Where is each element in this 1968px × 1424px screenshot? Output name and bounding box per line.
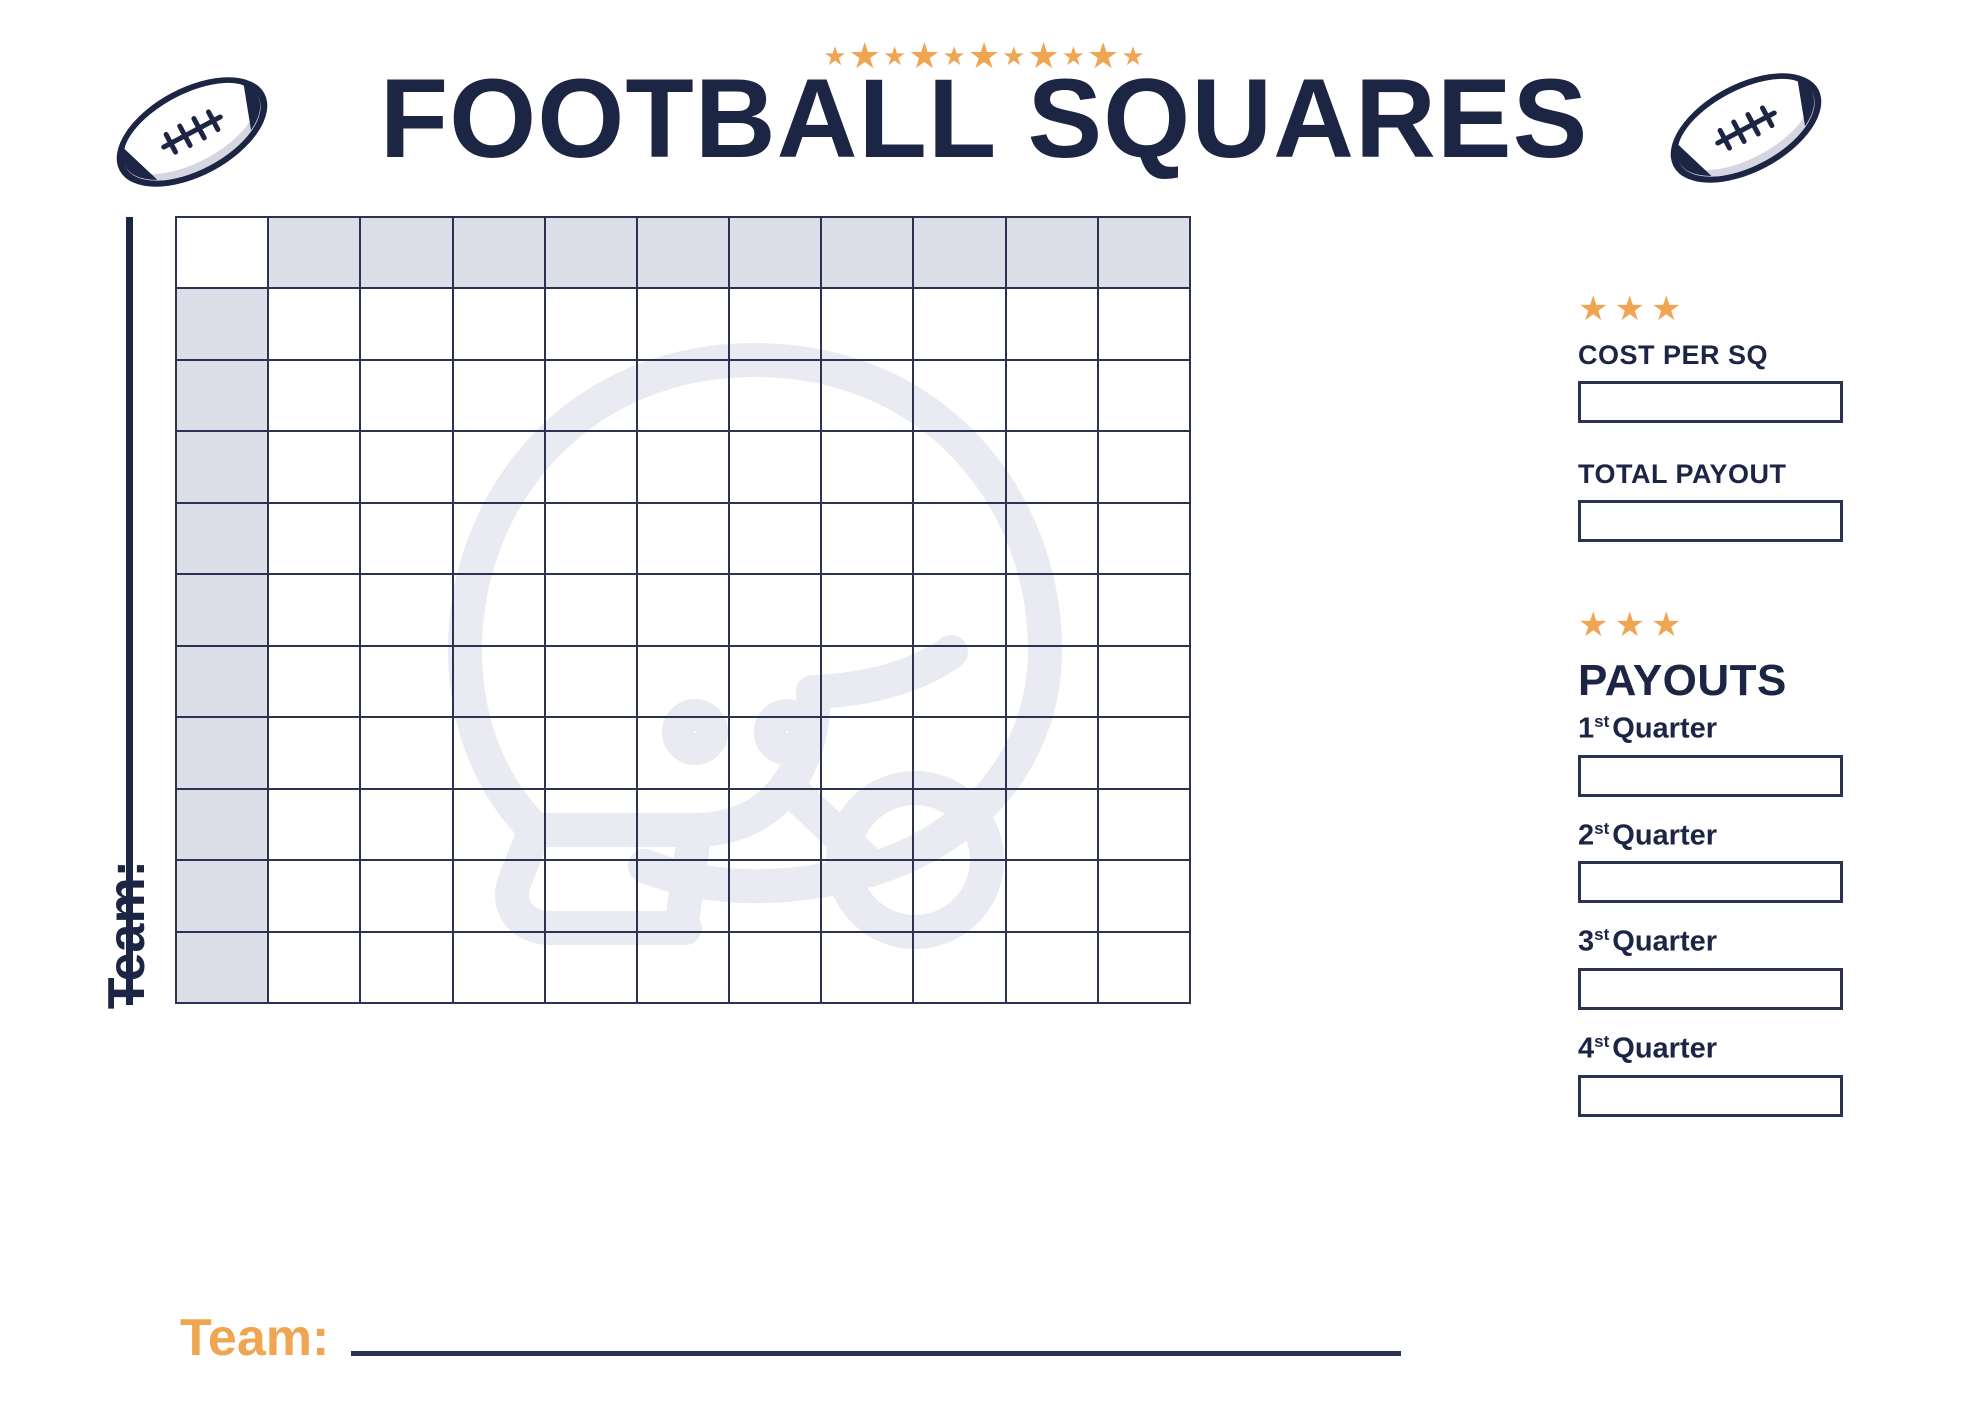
grid-square-cell[interactable] [821,503,913,574]
grid-square-cell[interactable] [1006,574,1098,645]
grid-square-cell[interactable] [268,431,360,502]
quarter-number: 1 [1578,713,1594,745]
grid-square-cell[interactable] [637,503,729,574]
cost-per-sq-field[interactable] [1578,381,1843,423]
grid-square-cell[interactable] [545,503,637,574]
grid-square-cell[interactable] [545,932,637,1003]
grid-square-cell[interactable] [821,288,913,359]
grid-square-cell[interactable] [1098,646,1190,717]
grid-row [176,503,1190,574]
grid-square-cell[interactable] [637,860,729,931]
grid-square-cell[interactable] [1098,717,1190,788]
grid-square-cell[interactable] [268,288,360,359]
grid-row [176,717,1190,788]
grid-square-cell[interactable] [1098,860,1190,931]
football-icon [1658,58,1834,198]
grid-row [176,574,1190,645]
grid-square-cell[interactable] [1098,574,1190,645]
team-label-bottom: Team: [180,1312,329,1364]
grid-column-header-cell[interactable] [913,217,1005,288]
grid-square-cell[interactable] [545,574,637,645]
grid-square-cell[interactable] [545,789,637,860]
grid-column-header-cell[interactable] [637,217,729,288]
quarter-3-payout-field[interactable] [1578,968,1843,1010]
grid-square-cell[interactable] [268,932,360,1003]
grid-square-cell[interactable] [637,789,729,860]
team-bottom-write-line[interactable] [351,1351,1401,1356]
grid-column-header-cell[interactable] [729,217,821,288]
grid-square-cell[interactable] [360,574,452,645]
quarter-2-label: 2stQuarter [1578,819,1858,853]
quarters-list: 1stQuarter2stQuarter3stQuarter4stQuarter [1578,712,1858,1117]
grid-square-cell[interactable] [1006,431,1098,502]
total-payout-label: TOTAL PAYOUT [1578,459,1858,490]
grid-row-header-cell[interactable] [176,789,268,860]
grid-square-cell[interactable] [453,717,545,788]
quarter-4-label: 4stQuarter [1578,1032,1858,1066]
cost-per-sq-label: COST PER SQ [1578,340,1858,371]
grid-square-cell[interactable] [913,431,1005,502]
grid-column-header-cell[interactable] [360,217,452,288]
grid-square-cell[interactable] [360,717,452,788]
quarter-ordinal-suffix: st [1594,1032,1609,1051]
grid-square-cell[interactable] [729,646,821,717]
quarter-number: 2 [1578,819,1594,851]
grid-square-cell[interactable] [1098,503,1190,574]
grid-square-cell[interactable] [729,288,821,359]
grid-square-cell[interactable] [913,717,1005,788]
grid-square-cell[interactable] [913,360,1005,431]
grid-column-header-cell[interactable] [1098,217,1190,288]
grid-square-cell[interactable] [360,360,452,431]
grid-square-cell[interactable] [1098,932,1190,1003]
grid-corner-cell [176,217,268,288]
grid-row-header-cell[interactable] [176,288,268,359]
grid-square-cell[interactable] [360,288,452,359]
grid-square-cell[interactable] [1006,646,1098,717]
grid-square-cell[interactable] [913,574,1005,645]
grid-square-cell[interactable] [729,860,821,931]
quarter-word: Quarter [1612,713,1717,745]
grid-square-cell[interactable] [545,860,637,931]
page-header: ★★★★★★★★★★★ FOOTBALL SQUARES [0,0,1968,215]
grid-square-cell[interactable] [637,431,729,502]
quarter-2-payout-field[interactable] [1578,861,1843,903]
grid-square-cell[interactable] [545,646,637,717]
grid-square-cell[interactable] [913,932,1005,1003]
grid-square-cell[interactable] [1006,789,1098,860]
grid-square-cell[interactable] [268,360,360,431]
squares-grid-wrapper [175,216,1191,1004]
grid-square-cell[interactable] [360,860,452,931]
grid-square-cell[interactable] [453,646,545,717]
grid-square-cell[interactable] [729,360,821,431]
grid-square-cell[interactable] [1006,717,1098,788]
payouts-heading: PAYOUTS [1578,656,1858,706]
grid-row [176,217,1190,288]
grid-row-header-cell[interactable] [176,431,268,502]
grid-square-cell[interactable] [453,574,545,645]
grid-square-cell[interactable] [1006,860,1098,931]
grid-square-cell[interactable] [453,860,545,931]
grid-square-cell[interactable] [913,860,1005,931]
grid-square-cell[interactable] [545,360,637,431]
grid-square-cell[interactable] [729,932,821,1003]
grid-square-cell[interactable] [545,717,637,788]
team-label-bottom-row: Team: [180,1303,1401,1373]
grid-square-cell[interactable] [821,789,913,860]
grid-square-cell[interactable] [821,574,913,645]
three-stars-icon-payouts: ★★★ [1578,608,1858,642]
grid-square-cell[interactable] [913,789,1005,860]
grid-square-cell[interactable] [360,431,452,502]
grid-square-cell[interactable] [453,503,545,574]
squares-grid [175,216,1191,1004]
grid-square-cell[interactable] [360,646,452,717]
grid-square-cell[interactable] [821,646,913,717]
quarter-word: Quarter [1612,819,1717,851]
grid-square-cell[interactable] [1006,503,1098,574]
grid-square-cell[interactable] [913,503,1005,574]
quarter-number: 4 [1578,1033,1594,1065]
grid-square-cell[interactable] [821,360,913,431]
total-payout-field[interactable] [1578,500,1843,542]
grid-square-cell[interactable] [913,646,1005,717]
grid-square-cell[interactable] [913,288,1005,359]
quarter-1-label: 1stQuarter [1578,712,1858,746]
spacer [1578,903,1858,925]
grid-square-cell[interactable] [1098,431,1190,502]
grid-row-header-cell[interactable] [176,717,268,788]
grid-square-cell[interactable] [1098,360,1190,431]
grid-square-cell[interactable] [637,646,729,717]
grid-square-cell[interactable] [453,431,545,502]
grid-square-cell[interactable] [821,860,913,931]
grid-square-cell[interactable] [268,574,360,645]
grid-row [176,360,1190,431]
spacer [1578,797,1858,819]
grid-row [176,646,1190,717]
grid-row-header-cell[interactable] [176,574,268,645]
grid-square-cell[interactable] [453,360,545,431]
grid-square-cell[interactable] [1006,360,1098,431]
grid-square-cell[interactable] [1006,932,1098,1003]
quarter-1-payout-field[interactable] [1578,755,1843,797]
grid-square-cell[interactable] [637,717,729,788]
grid-square-cell[interactable] [453,789,545,860]
grid-row [176,860,1190,931]
grid-square-cell[interactable] [453,932,545,1003]
grid-square-cell[interactable] [729,431,821,502]
grid-column-header-cell[interactable] [821,217,913,288]
grid-column-header-cell[interactable] [545,217,637,288]
quarter-word: Quarter [1612,1033,1717,1065]
grid-square-cell[interactable] [268,646,360,717]
grid-square-cell[interactable] [821,932,913,1003]
grid-row-header-cell[interactable] [176,860,268,931]
grid-square-cell[interactable] [729,717,821,788]
right-panel: ★★★ COST PER SQ TOTAL PAYOUT ★★★ PAYOUTS… [1578,292,1858,1117]
grid-square-cell[interactable] [821,431,913,502]
grid-square-cell[interactable] [453,288,545,359]
quarter-word: Quarter [1612,926,1717,958]
quarter-ordinal-suffix: st [1594,819,1609,838]
grid-square-cell[interactable] [821,717,913,788]
grid-square-cell[interactable] [729,789,821,860]
quarter-4-payout-field[interactable] [1578,1075,1843,1117]
grid-square-cell[interactable] [268,717,360,788]
grid-square-cell[interactable] [1098,288,1190,359]
grid-column-header-cell[interactable] [453,217,545,288]
grid-square-cell[interactable] [268,860,360,931]
three-stars-icon-top: ★★★ [1578,292,1858,326]
grid-row [176,431,1190,502]
grid-square-cell[interactable] [545,288,637,359]
grid-column-header-cell[interactable] [268,217,360,288]
quarter-ordinal-suffix: st [1594,925,1609,944]
grid-row-header-cell[interactable] [176,503,268,574]
grid-square-cell[interactable] [1006,288,1098,359]
grid-square-cell[interactable] [637,574,729,645]
grid-square-cell[interactable] [360,789,452,860]
spacer [1578,1010,1858,1032]
team-label-vertical: Team: [97,860,157,1120]
quarter-ordinal-suffix: st [1594,712,1609,731]
grid-square-cell[interactable] [637,360,729,431]
grid-square-cell[interactable] [1098,789,1190,860]
grid-square-cell[interactable] [637,288,729,359]
grid-square-cell[interactable] [360,503,452,574]
grid-square-cell[interactable] [729,503,821,574]
quarter-number: 3 [1578,926,1594,958]
grid-square-cell[interactable] [545,431,637,502]
grid-row-header-cell[interactable] [176,360,268,431]
grid-column-header-cell[interactable] [1006,217,1098,288]
grid-row [176,288,1190,359]
grid-row [176,932,1190,1003]
grid-square-cell[interactable] [268,503,360,574]
grid-square-cell[interactable] [637,932,729,1003]
grid-square-cell[interactable] [729,574,821,645]
grid-square-cell[interactable] [360,932,452,1003]
grid-row-header-cell[interactable] [176,932,268,1003]
grid-row-header-cell[interactable] [176,646,268,717]
grid-row [176,789,1190,860]
grid-square-cell[interactable] [268,789,360,860]
quarter-3-label: 3stQuarter [1578,925,1858,959]
